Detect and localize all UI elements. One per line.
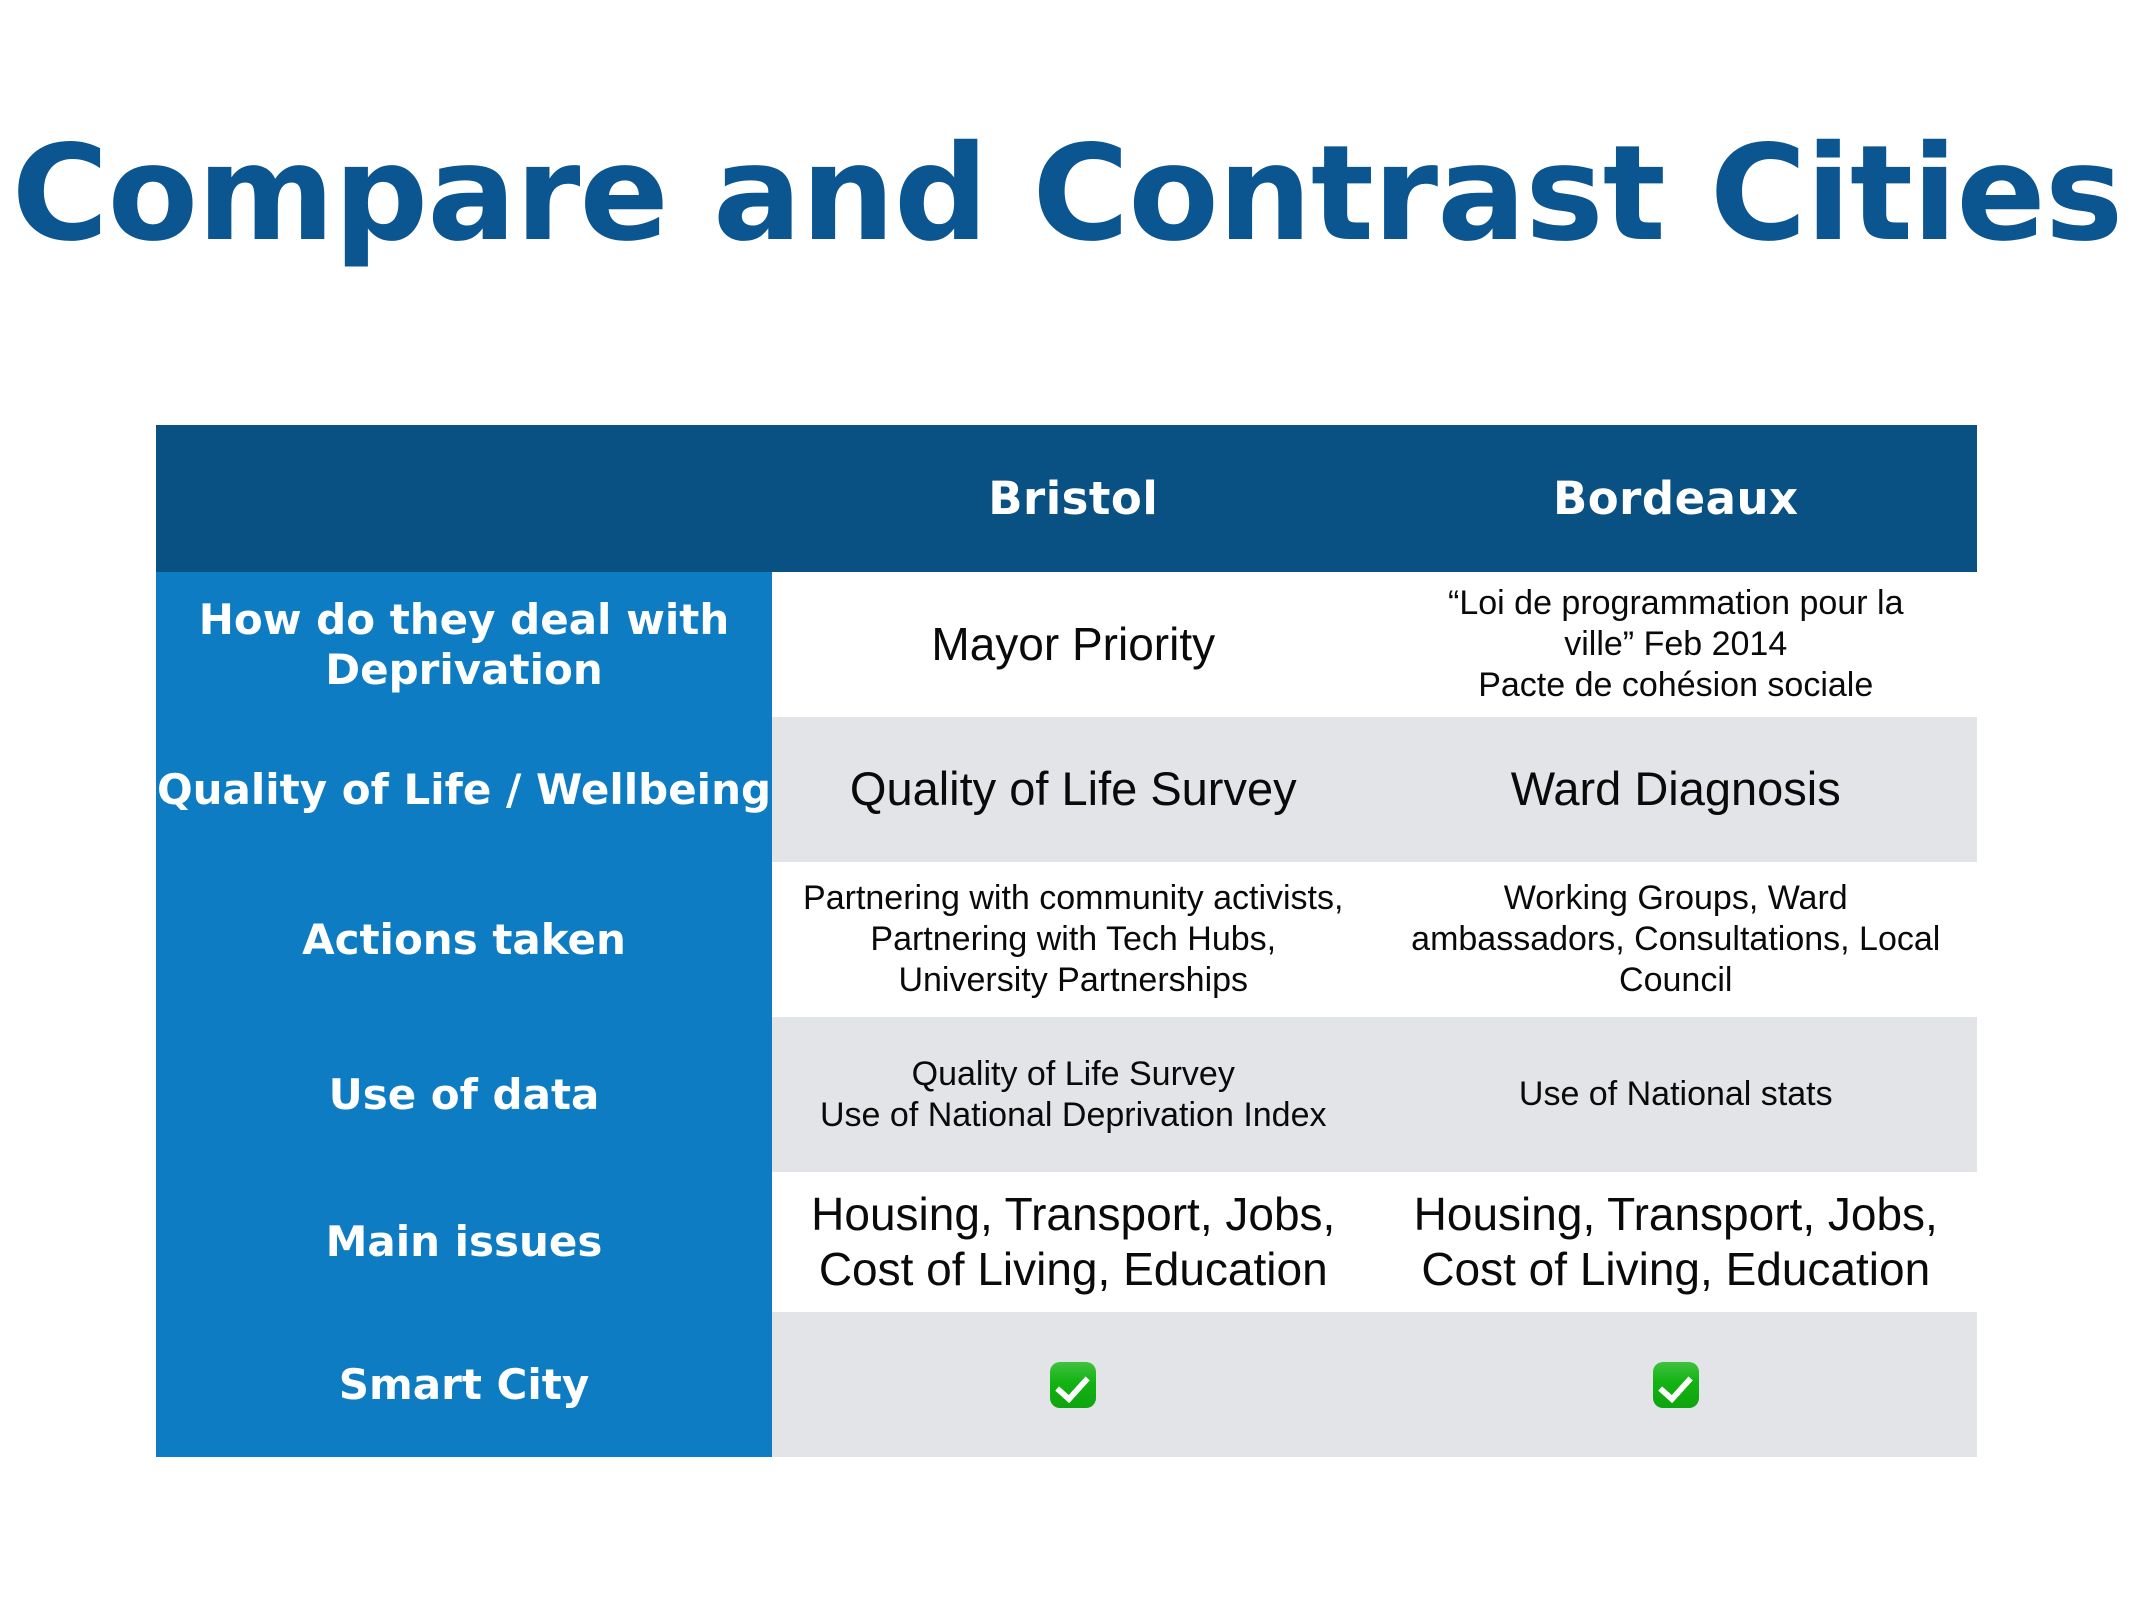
cell-line: Housing, Transport, Jobs, xyxy=(772,1187,1375,1242)
row-label-line: Main issues xyxy=(326,1217,603,1266)
header-cell-blank xyxy=(156,425,772,572)
header-label-bristol: Bristol xyxy=(988,472,1158,525)
table-header-row: Bristol Bordeaux xyxy=(156,425,1977,572)
header-cell-bristol: Bristol xyxy=(772,425,1375,572)
page-title: Compare and Contrast Cities xyxy=(0,128,2134,260)
cell-bordeaux-use-of-data: Use of National stats xyxy=(1375,1017,1978,1172)
cell-line: Working Groups, Ward xyxy=(1375,878,1978,919)
header-label-bordeaux: Bordeaux xyxy=(1553,472,1799,525)
header-cell-bordeaux: Bordeaux xyxy=(1375,425,1978,572)
table-row: Quality of Life / Wellbeing Quality of L… xyxy=(156,717,1977,862)
table-row: Actions taken Partnering with community … xyxy=(156,862,1977,1017)
row-label-quality-of-life: Quality of Life / Wellbeing xyxy=(156,717,772,862)
row-label-main-issues: Main issues xyxy=(156,1172,772,1312)
row-label-actions-taken: Actions taken xyxy=(156,862,772,1017)
cell-line: Mayor Priority xyxy=(772,617,1375,672)
table-row: Smart City xyxy=(156,1312,1977,1457)
compare-cities-table: Bristol Bordeaux How do they deal with D… xyxy=(156,425,1977,1457)
cell-bristol-main-issues: Housing, Transport, Jobs, Cost of Living… xyxy=(772,1172,1375,1312)
table-row: Use of data Quality of Life Survey Use o… xyxy=(156,1017,1977,1172)
cell-line: Partnering with Tech Hubs, xyxy=(772,919,1375,960)
cell-bordeaux-smart-city xyxy=(1375,1312,1978,1457)
row-label-smart-city: Smart City xyxy=(156,1312,772,1457)
cell-bristol-use-of-data: Quality of Life Survey Use of National D… xyxy=(772,1017,1375,1172)
row-label-line: Wellbeing xyxy=(536,765,771,814)
cell-line: ambassadors, Consultations, Local xyxy=(1375,919,1978,960)
cell-line: ville” Feb 2014 xyxy=(1375,624,1978,665)
cell-line: Pacte de cohésion sociale xyxy=(1375,665,1978,706)
row-label-line: Actions taken xyxy=(302,915,626,964)
cell-bristol-smart-city xyxy=(772,1312,1375,1457)
cell-line: University Partnerships xyxy=(772,960,1375,1001)
cell-line: Ward Diagnosis xyxy=(1375,761,1978,817)
row-label-line: How do they deal with xyxy=(199,595,730,644)
cell-bordeaux-deprivation: “Loi de programmation pour la ville” Feb… xyxy=(1375,572,1978,717)
row-label-line: Smart City xyxy=(339,1360,589,1409)
cell-line: Use of National stats xyxy=(1375,1074,1978,1115)
cell-line: Partnering with community activists, xyxy=(772,878,1375,919)
row-label-use-of-data: Use of data xyxy=(156,1017,772,1172)
row-label-line: Deprivation xyxy=(325,645,602,694)
cell-bordeaux-actions-taken: Working Groups, Ward ambassadors, Consul… xyxy=(1375,862,1978,1017)
cell-line: Council xyxy=(1375,960,1978,1001)
cell-bordeaux-quality-of-life: Ward Diagnosis xyxy=(1375,717,1978,862)
cell-line: Cost of Living, Education xyxy=(1375,1242,1978,1297)
row-label-line: Quality of Life / xyxy=(157,765,521,814)
cell-bristol-quality-of-life: Quality of Life Survey xyxy=(772,717,1375,862)
white-heavy-check-mark-icon xyxy=(1653,1362,1699,1408)
cell-bordeaux-main-issues: Housing, Transport, Jobs, Cost of Living… xyxy=(1375,1172,1978,1312)
cell-line: Cost of Living, Education xyxy=(772,1242,1375,1297)
cell-bristol-deprivation: Mayor Priority xyxy=(772,572,1375,717)
table-row: Main issues Housing, Transport, Jobs, Co… xyxy=(156,1172,1977,1312)
cell-line: “Loi de programmation pour la xyxy=(1375,583,1978,624)
cell-line: Housing, Transport, Jobs, xyxy=(1375,1187,1978,1242)
table-row: How do they deal with Deprivation Mayor … xyxy=(156,572,1977,717)
cell-line: Quality of Life Survey xyxy=(772,1054,1375,1095)
row-label-deprivation: How do they deal with Deprivation xyxy=(156,572,772,717)
cell-line: Quality of Life Survey xyxy=(772,761,1375,817)
cell-bristol-actions-taken: Partnering with community activists, Par… xyxy=(772,862,1375,1017)
white-heavy-check-mark-icon xyxy=(1050,1362,1096,1408)
row-label-line: Use of data xyxy=(329,1070,600,1119)
cell-line: Use of National Deprivation Index xyxy=(772,1095,1375,1136)
